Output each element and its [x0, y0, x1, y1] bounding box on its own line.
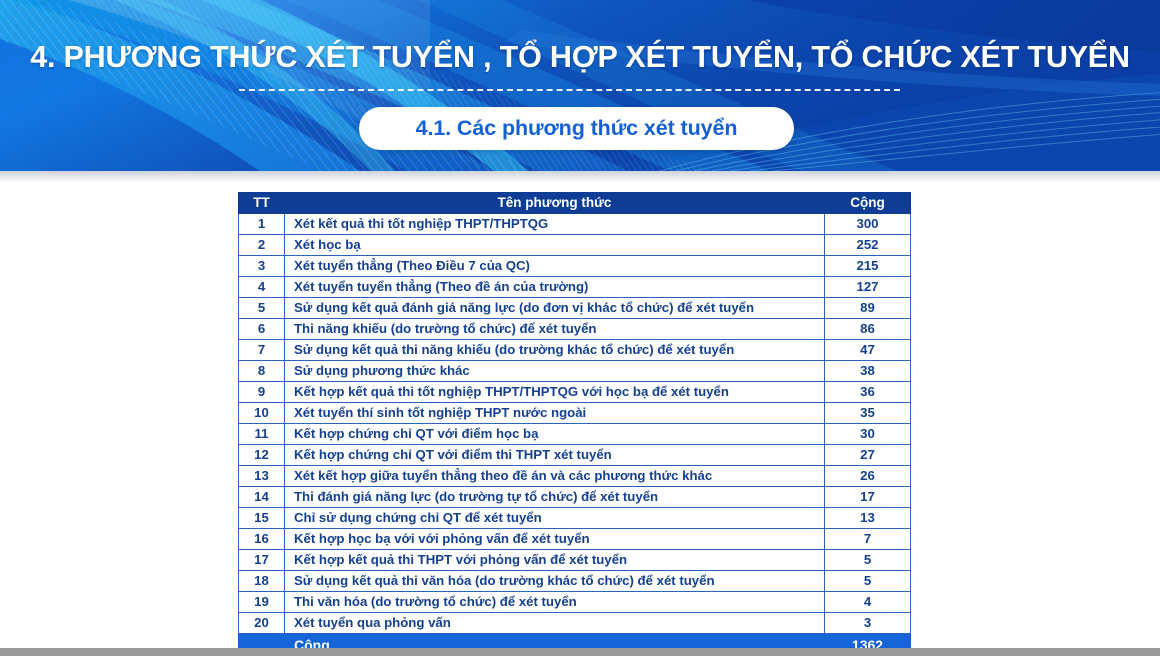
table-header-row: TT Tên phương thức Cộng — [239, 193, 911, 214]
table-row: 16Kết hợp học bạ với với phỏng vấn để xé… — [239, 529, 911, 550]
row-method-name: Thi năng khiếu (do trường tổ chức) để xé… — [285, 319, 825, 340]
table-body: 1Xét kết quả thi tốt nghiệp THPT/THPTQG3… — [239, 214, 911, 634]
table-row: 11Kết hợp chứng chỉ QT với điểm học bạ30 — [239, 424, 911, 445]
row-method-name: Xét tuyển qua phỏng vấn — [285, 613, 825, 634]
row-method-name: Sử dụng kết quả thi năng khiếu (do trườn… — [285, 340, 825, 361]
row-count: 36 — [825, 382, 911, 403]
row-count: 30 — [825, 424, 911, 445]
row-count: 35 — [825, 403, 911, 424]
table-row: 5Sử dụng kết quả đánh giá năng lực (do đ… — [239, 298, 911, 319]
table-row: 2Xét học bạ252 — [239, 235, 911, 256]
row-index: 13 — [239, 466, 285, 487]
row-index: 20 — [239, 613, 285, 634]
table-row: 20Xét tuyển qua phỏng vấn3 — [239, 613, 911, 634]
row-method-name: Xét tuyển tuyển thẳng (Theo đề án của tr… — [285, 277, 825, 298]
row-count: 47 — [825, 340, 911, 361]
row-method-name: Xét học bạ — [285, 235, 825, 256]
table-row: 17Kết hợp kết quả thi THPT với phỏng vấn… — [239, 550, 911, 571]
row-method-name: Xét tuyển thí sinh tốt nghiệp THPT nước … — [285, 403, 825, 424]
row-index: 8 — [239, 361, 285, 382]
table-row: 18Sử dụng kết quả thi văn hóa (do trường… — [239, 571, 911, 592]
table-row: 10Xét tuyển thí sinh tốt nghiệp THPT nướ… — [239, 403, 911, 424]
row-method-name: Sử dụng kết quả đánh giá năng lực (do đơ… — [285, 298, 825, 319]
row-count: 26 — [825, 466, 911, 487]
table-row: 6Thi năng khiếu (do trường tổ chức) để x… — [239, 319, 911, 340]
row-index: 15 — [239, 508, 285, 529]
row-index: 5 — [239, 298, 285, 319]
row-index: 1 — [239, 214, 285, 235]
row-index: 17 — [239, 550, 285, 571]
row-method-name: Xét kết quả thi tốt nghiệp THPT/THPTQG — [285, 214, 825, 235]
table-row: 15Chỉ sử dụng chứng chỉ QT để xét tuyển1… — [239, 508, 911, 529]
admission-methods-table-wrapper: TT Tên phương thức Cộng 1Xét kết quả thi… — [238, 192, 910, 656]
row-count: 17 — [825, 487, 911, 508]
row-count: 252 — [825, 235, 911, 256]
table-row: 12Kết hợp chứng chỉ QT với điểm thi THPT… — [239, 445, 911, 466]
slide-page: 4. PHƯƠNG THỨC XÉT TUYỂN , TỔ HỢP XÉT TU… — [0, 0, 1160, 656]
row-index: 4 — [239, 277, 285, 298]
row-index: 19 — [239, 592, 285, 613]
subtitle-pill-label: 4.1. Các phương thức xét tuyển — [416, 116, 738, 141]
row-method-name: Kết hợp học bạ với với phỏng vấn để xét … — [285, 529, 825, 550]
row-method-name: Sử dụng phương thức khác — [285, 361, 825, 382]
row-count: 4 — [825, 592, 911, 613]
table-row: 13Xét kết hợp giữa tuyển thẳng theo đề á… — [239, 466, 911, 487]
row-method-name: Thi đánh giá năng lực (do trường tự tổ c… — [285, 487, 825, 508]
table-row: 4Xét tuyển tuyển thẳng (Theo đề án của t… — [239, 277, 911, 298]
row-count: 86 — [825, 319, 911, 340]
row-method-name: Kết hợp kết quả thi THPT với phỏng vấn đ… — [285, 550, 825, 571]
row-index: 9 — [239, 382, 285, 403]
table-row: 7Sử dụng kết quả thi năng khiếu (do trườ… — [239, 340, 911, 361]
row-count: 5 — [825, 550, 911, 571]
row-method-name: Xét kết hợp giữa tuyển thẳng theo đề án … — [285, 466, 825, 487]
column-header-name: Tên phương thức — [285, 193, 825, 214]
row-method-name: Xét tuyển thẳng (Theo Điều 7 của QC) — [285, 256, 825, 277]
row-count: 27 — [825, 445, 911, 466]
page-title: 4. PHƯƠNG THỨC XÉT TUYỂN , TỔ HỢP XÉT TU… — [0, 40, 1160, 75]
row-method-name: Thi văn hóa (do trường tổ chức) để xét t… — [285, 592, 825, 613]
header-banner: 4. PHƯƠNG THỨC XÉT TUYỂN , TỔ HỢP XÉT TU… — [0, 0, 1160, 171]
row-count: 215 — [825, 256, 911, 277]
row-index: 11 — [239, 424, 285, 445]
row-method-name: Kết hợp chứng chỉ QT với điểm học bạ — [285, 424, 825, 445]
row-count: 300 — [825, 214, 911, 235]
title-divider — [239, 89, 900, 91]
row-count: 3 — [825, 613, 911, 634]
row-index: 18 — [239, 571, 285, 592]
admission-methods-table: TT Tên phương thức Cộng 1Xét kết quả thi… — [238, 192, 911, 656]
row-index: 12 — [239, 445, 285, 466]
row-index: 14 — [239, 487, 285, 508]
row-method-name: Chỉ sử dụng chứng chỉ QT để xét tuyển — [285, 508, 825, 529]
table-row: 3Xét tuyển thẳng (Theo Điều 7 của QC)215 — [239, 256, 911, 277]
bottom-bar — [0, 648, 1160, 656]
banner-drop-shadow — [0, 171, 1160, 183]
table-row: 14Thi đánh giá năng lực (do trường tự tổ… — [239, 487, 911, 508]
table-row: 9Kết hợp kết quả thi tốt nghiệp THPT/THP… — [239, 382, 911, 403]
table-row: 19Thi văn hóa (do trường tổ chức) để xét… — [239, 592, 911, 613]
row-method-name: Kết hợp kết quả thi tốt nghiệp THPT/THPT… — [285, 382, 825, 403]
row-count: 127 — [825, 277, 911, 298]
row-index: 6 — [239, 319, 285, 340]
row-index: 7 — [239, 340, 285, 361]
table-header: TT Tên phương thức Cộng — [239, 193, 911, 214]
table-row: 1Xét kết quả thi tốt nghiệp THPT/THPTQG3… — [239, 214, 911, 235]
row-count: 7 — [825, 529, 911, 550]
column-header-index: TT — [239, 193, 285, 214]
row-count: 13 — [825, 508, 911, 529]
subtitle-pill: 4.1. Các phương thức xét tuyển — [359, 107, 794, 150]
column-header-total: Cộng — [825, 193, 911, 214]
row-index: 16 — [239, 529, 285, 550]
row-index: 2 — [239, 235, 285, 256]
table-row: 8Sử dụng phương thức khác38 — [239, 361, 911, 382]
row-count: 38 — [825, 361, 911, 382]
row-method-name: Sử dụng kết quả thi văn hóa (do trường k… — [285, 571, 825, 592]
row-count: 89 — [825, 298, 911, 319]
row-count: 5 — [825, 571, 911, 592]
row-method-name: Kết hợp chứng chỉ QT với điểm thi THPT x… — [285, 445, 825, 466]
row-index: 10 — [239, 403, 285, 424]
row-index: 3 — [239, 256, 285, 277]
